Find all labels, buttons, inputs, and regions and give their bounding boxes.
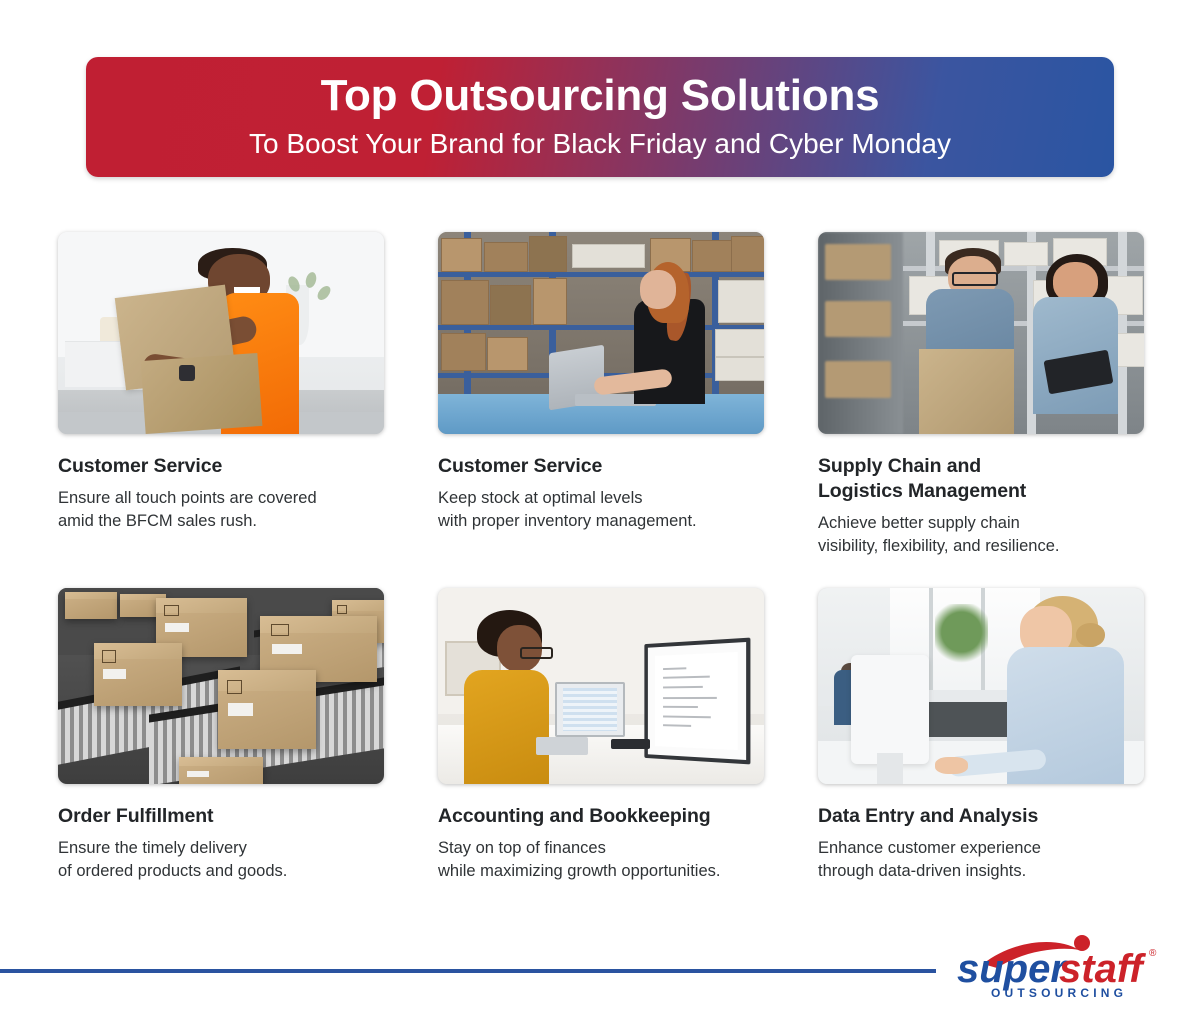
services-row-1: Customer Service Ensure all touch points…	[58, 232, 1150, 557]
card-description: Enhance customer experience through data…	[818, 837, 1144, 882]
card-description: Achieve better supply chain visibility, …	[818, 512, 1144, 557]
footer-divider	[0, 969, 936, 973]
card-photo-conveyor-boxes	[58, 588, 384, 784]
card-title: Order Fulfillment	[58, 804, 384, 829]
card-photo-office-worker-imac	[818, 588, 1144, 784]
card-description: Stay on top of finances while maximizing…	[438, 837, 764, 882]
service-card-customer-service-2[interactable]: Customer Service Keep stock at optimal l…	[438, 232, 764, 557]
card-title: Supply Chain and Logistics Management	[818, 454, 1144, 504]
logo-name-part1: super	[957, 947, 1068, 991]
banner-subtitle: To Boost Your Brand for Black Friday and…	[249, 127, 951, 161]
service-card-accounting[interactable]: Accounting and Bookkeeping Stay on top o…	[438, 588, 764, 882]
service-card-data-entry[interactable]: Data Entry and Analysis Enhance customer…	[818, 588, 1144, 882]
superstaff-logo: super staff ® OUTSOURCING	[953, 930, 1165, 1002]
service-card-order-fulfillment[interactable]: Order Fulfillment Ensure the timely deli…	[58, 588, 384, 882]
card-photo-accountant-desk	[438, 588, 764, 784]
card-photo-colleagues-tablet	[818, 232, 1144, 434]
registered-mark: ®	[1149, 948, 1157, 959]
card-title: Data Entry and Analysis	[818, 804, 1144, 829]
header-banner: Top Outsourcing Solutions To Boost Your …	[86, 57, 1114, 177]
superstaff-logo-svg: super staff ® OUTSOURCING	[953, 930, 1165, 1002]
banner-title: Top Outsourcing Solutions	[321, 73, 880, 119]
service-card-supply-chain[interactable]: Supply Chain and Logistics Management Ac…	[818, 232, 1144, 557]
card-title: Accounting and Bookkeeping	[438, 804, 764, 829]
card-description: Ensure the timely delivery of ordered pr…	[58, 837, 384, 882]
card-description: Ensure all touch points are covered amid…	[58, 487, 384, 532]
card-photo-warehouse-laptop	[438, 232, 764, 434]
services-grid: Customer Service Ensure all touch points…	[58, 232, 1150, 882]
card-photo-woman-with-box	[58, 232, 384, 434]
infographic-page: Top Outsourcing Solutions To Boost Your …	[0, 0, 1200, 1029]
service-card-customer-service-1[interactable]: Customer Service Ensure all touch points…	[58, 232, 384, 557]
card-title: Customer Service	[438, 454, 764, 479]
card-title: Customer Service	[58, 454, 384, 479]
services-row-2: Order Fulfillment Ensure the timely deli…	[58, 588, 1150, 882]
logo-tagline: OUTSOURCING	[991, 986, 1127, 1000]
card-description: Keep stock at optimal levels with proper…	[438, 487, 764, 532]
logo-name-part2: staff	[1059, 947, 1146, 991]
